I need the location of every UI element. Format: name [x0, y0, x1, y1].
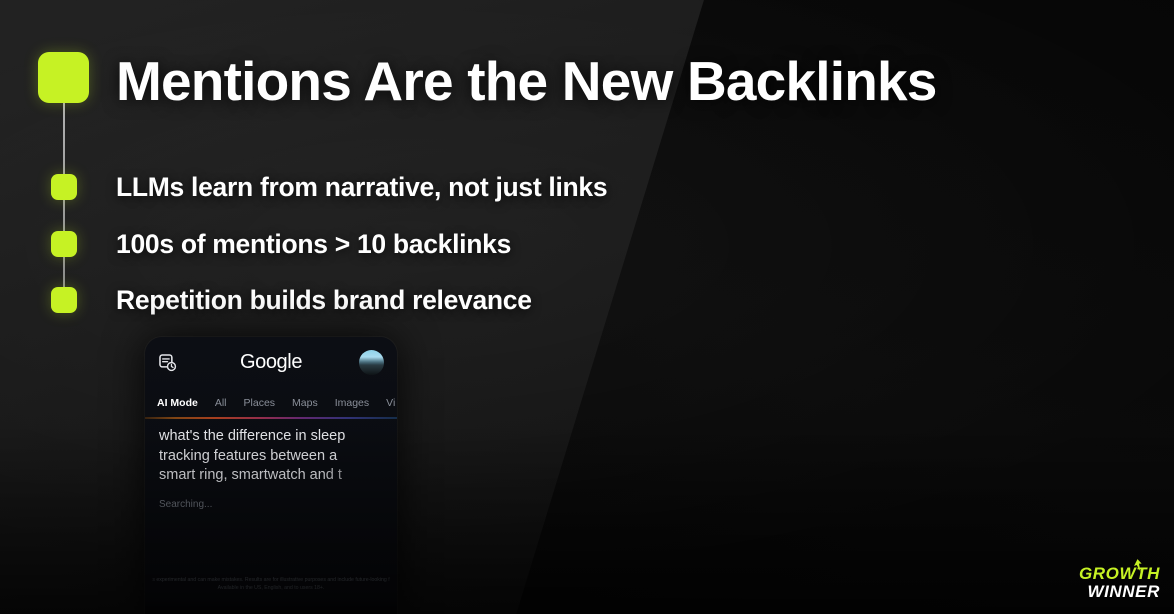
tab-maps[interactable]: Maps	[292, 397, 318, 409]
tab-images[interactable]: Images	[335, 397, 369, 409]
tab-all[interactable]: All	[215, 397, 227, 409]
up-arrow-icon	[1132, 558, 1143, 571]
bullet-item-1: LLMs learn from narrative, not just link…	[116, 172, 607, 203]
avatar[interactable]	[359, 350, 384, 375]
tab-videos[interactable]: Vi	[386, 397, 395, 409]
brand-line-1: GROWTH	[1079, 565, 1160, 582]
tab-places[interactable]: Places	[244, 397, 276, 409]
bullet-item-2: 100s of mentions > 10 backlinks	[116, 229, 511, 260]
brand-logo: GROWTH WINNER	[1079, 565, 1160, 600]
google-top-bar: Google	[145, 337, 397, 389]
tab-ai-mode[interactable]: AI Mode	[157, 397, 198, 409]
brand-line-1-text: GROWTH	[1079, 564, 1160, 583]
gemini-gradient-divider	[145, 417, 397, 419]
google-tab-bar: AI Mode All Places Maps Images Vi	[145, 392, 397, 414]
bullet-item-3: Repetition builds brand relevance	[116, 285, 532, 316]
background-bottom-fade	[0, 424, 1174, 614]
brand-line-2: WINNER	[1079, 583, 1160, 600]
timeline-marker-bullet-3	[51, 287, 77, 313]
timeline-marker-bullet-1	[51, 174, 77, 200]
page-title: Mentions Are the New Backlinks	[116, 49, 937, 113]
timeline-connector-line	[63, 100, 65, 305]
timeline-marker-bullet-2	[51, 231, 77, 257]
timeline-marker-title	[38, 52, 89, 103]
slide-canvas: Mentions Are the New Backlinks LLMs lear…	[0, 0, 1174, 614]
